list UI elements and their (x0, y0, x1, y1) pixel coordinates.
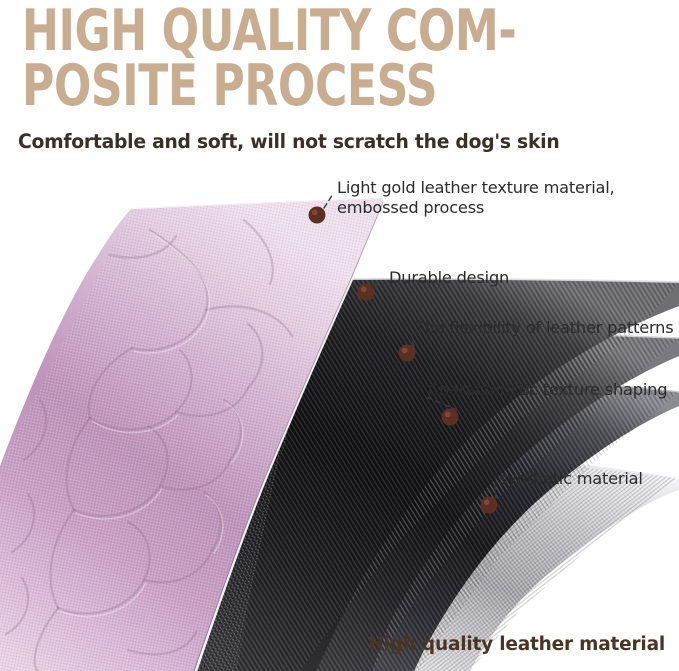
page-title: HIGH QUALITY COM- POSITE PROCESS (22, 4, 538, 114)
callout-label-light-gold-leather: Light gold leather texture material, emb… (337, 178, 615, 218)
callout-label-flexibility-leather-patterns: The flexibility of leather patterns (415, 318, 673, 338)
callout-label-durable-design: Durable design (389, 268, 509, 288)
callout-label-synthetic-material: synthetic material (499, 469, 643, 489)
page-subtitle: Comfortable and soft, will not scratch t… (18, 130, 559, 153)
layered-material-illustration (0, 160, 679, 671)
footer-note: High quality leather material (368, 634, 665, 655)
material-cutaway-svg (0, 160, 679, 671)
callout-label-characteristic-texture-shaping: Characteristic texture shaping (428, 380, 667, 400)
